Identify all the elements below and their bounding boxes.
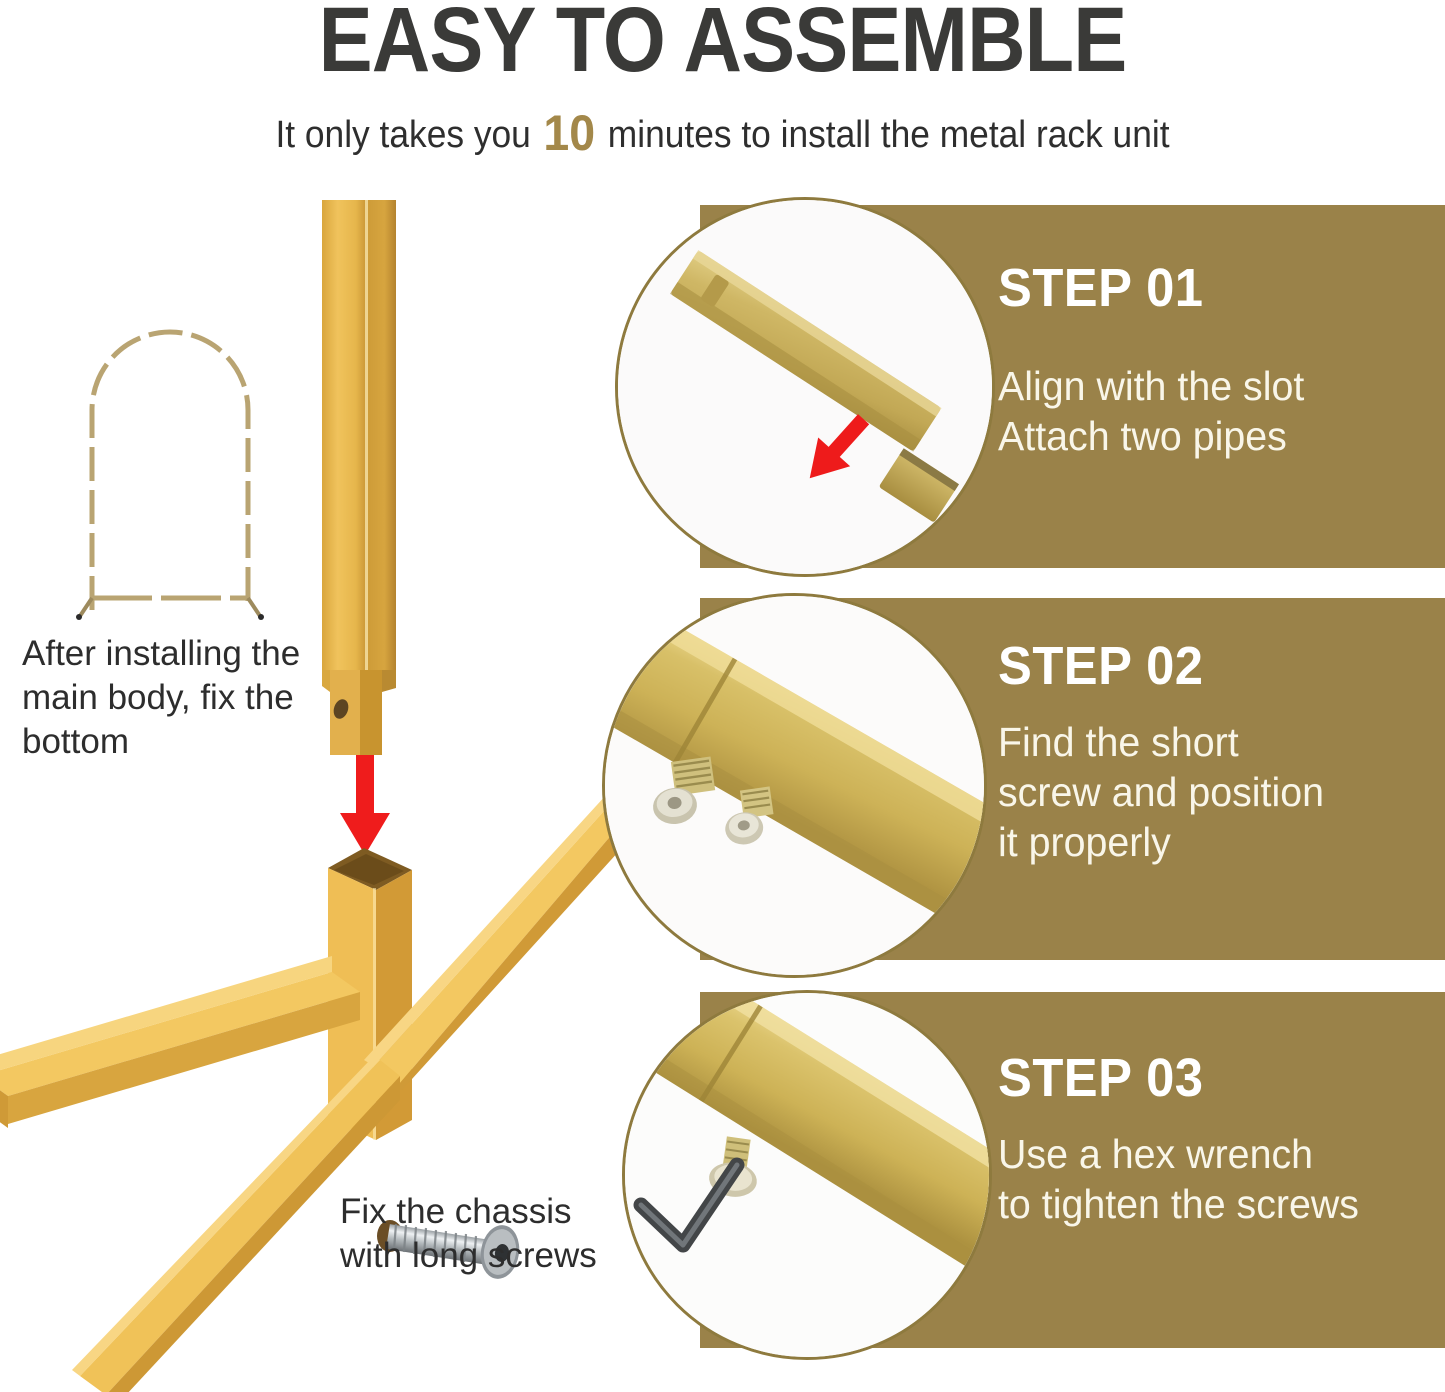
step-01-body-line-1: Align with the slot xyxy=(998,361,1304,411)
step-03-body: Use a hex wrench to tighten the screws xyxy=(998,1129,1359,1229)
step-02-body-line-1: Find the short xyxy=(998,717,1324,767)
page-title: EASY TO ASSEMBLE xyxy=(87,0,1359,86)
step-03-body-line-1: Use a hex wrench xyxy=(998,1129,1359,1179)
step-01-text: STEP 01 Align with the slot Attach two p… xyxy=(998,260,1317,461)
subtitle-text-after: minutes to install the metal rack unit xyxy=(608,114,1170,156)
subtitle-minutes-number: 10 xyxy=(541,105,598,161)
step-01-body-line-2: Attach two pipes xyxy=(998,411,1304,461)
step-03-panel: STEP 03 Use a hex wrench to tighten the … xyxy=(700,992,1445,1348)
step-02-title: STEP 02 xyxy=(998,638,1317,695)
vertical-pipe-upper xyxy=(310,200,440,760)
step-01-body: Align with the slot Attach two pipes xyxy=(998,361,1304,461)
step-03-text: STEP 03 Use a hex wrench to tighten the … xyxy=(998,1050,1374,1229)
arch-caption-line-3: bottom xyxy=(22,720,300,764)
assembly-illustration: After installing the main body, fix the … xyxy=(0,180,640,1392)
step-02-body-line-3: it properly xyxy=(998,817,1324,867)
step-02-body: Find the short screw and position it pro… xyxy=(998,717,1324,867)
step-03-body-line-2: to tighten the screws xyxy=(998,1179,1359,1229)
step-03-title: STEP 03 xyxy=(998,1050,1351,1107)
arch-caption-line-1: After installing the xyxy=(22,632,300,676)
infographic-page: EASY TO ASSEMBLE It only takes you 10 mi… xyxy=(0,0,1445,1392)
step-01-title: STEP 01 xyxy=(998,260,1298,317)
step-01-photo xyxy=(615,197,995,577)
step-02-photo xyxy=(602,593,987,978)
step-02-panel: STEP 02 Find the short screw and positio… xyxy=(700,598,1445,960)
arch-caption-line-2: main body, fix the xyxy=(22,676,300,720)
step-02-body-line-2: screw and position xyxy=(998,767,1324,817)
chassis-caption-line-2: with long screws xyxy=(340,1234,597,1278)
chassis-caption: Fix the chassis with long screws xyxy=(340,1190,597,1278)
step-01-panel: STEP 01 Align with the slot Attach two p… xyxy=(700,205,1445,568)
page-subtitle: It only takes you 10 minutes to install … xyxy=(51,104,1395,162)
arch-caption: After installing the main body, fix the … xyxy=(22,632,300,763)
step-02-text: STEP 02 Find the short screw and positio… xyxy=(998,638,1338,867)
arch-frame-diagram xyxy=(70,310,270,620)
chassis-caption-line-1: Fix the chassis xyxy=(340,1190,597,1234)
step-03-photo xyxy=(622,990,992,1360)
header: EASY TO ASSEMBLE It only takes you 10 mi… xyxy=(0,0,1445,180)
subtitle-text-before: It only takes you xyxy=(275,114,530,156)
